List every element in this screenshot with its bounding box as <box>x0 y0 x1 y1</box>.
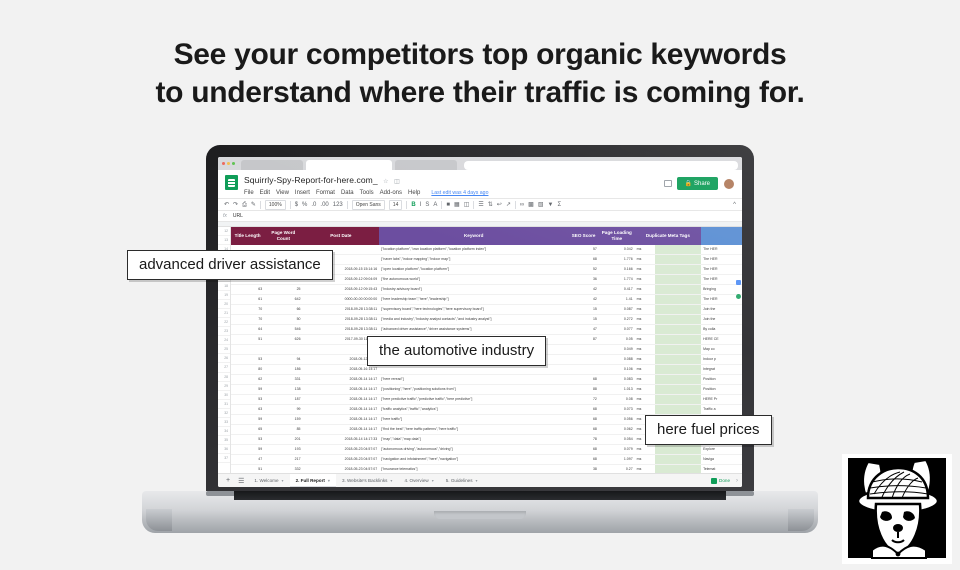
row-number[interactable]: 21 <box>218 309 230 318</box>
cell-title-length[interactable]: 62 <box>231 375 264 385</box>
cell-page-loading-time[interactable]: 1.774 <box>599 275 635 285</box>
cell-title-length[interactable]: 53 <box>231 395 264 405</box>
cell-seo-score[interactable]: 52 <box>568 265 599 275</box>
cell-duplicate-meta-tags[interactable] <box>655 455 701 465</box>
cell-meta-description[interactable]: Naviga <box>701 455 742 465</box>
cell-title-length[interactable]: 47 <box>231 455 264 465</box>
number-format-selector[interactable]: 123 <box>333 202 343 208</box>
cell-duplicate-meta-tags[interactable] <box>655 445 701 455</box>
cell-seo-score[interactable]: 36 <box>568 275 599 285</box>
cell-meta-description[interactable]: HERE Pr <box>701 395 742 405</box>
cell-keyword[interactable]: ["here predictive traffic","predictive t… <box>379 395 568 405</box>
cell-post-date[interactable]: 2018-09-28 13:38:11 <box>303 315 380 325</box>
cell-duplicate-meta-tags[interactable] <box>655 255 701 265</box>
cell-loading-unit[interactable]: ms <box>635 355 655 365</box>
chevron-down-icon[interactable]: ▾ <box>282 478 284 483</box>
paint-format-icon[interactable]: ✎ <box>251 202 256 208</box>
cell-meta-description[interactable]: Position <box>701 385 742 395</box>
cell-keyword[interactable]: ["the autonomous world"] <box>379 275 568 285</box>
cell-page-loading-time[interactable]: 0.077 <box>599 325 635 335</box>
star-icon[interactable]: ☆ <box>383 179 388 185</box>
cell-title-length[interactable]: 53 <box>231 355 264 365</box>
cell-loading-unit[interactable]: ms <box>635 265 655 275</box>
cell-title-length[interactable]: 63 <box>231 285 264 295</box>
vertical-align-icon[interactable]: ⇅ <box>488 202 493 208</box>
cell-page-loading-time[interactable]: 0.056 <box>599 415 635 425</box>
table-row[interactable]: 616420000-00-00 00:00:00["here leadershi… <box>231 295 742 305</box>
column-header-keyword[interactable]: Keyword <box>379 227 568 245</box>
cell-meta-description[interactable]: Explore <box>701 445 742 455</box>
addon-icon[interactable] <box>736 294 741 299</box>
cell-seo-score[interactable]: 68 <box>568 415 599 425</box>
cell-page-loading-time[interactable]: 0.073 <box>599 405 635 415</box>
increase-decimal-icon[interactable]: .00 <box>320 202 328 208</box>
cell-duplicate-meta-tags[interactable] <box>655 275 701 285</box>
menu-item-format[interactable]: Format <box>316 190 335 196</box>
cell-page-loading-time[interactable]: 0.106 <box>599 365 635 375</box>
decrease-decimal-icon[interactable]: .0 <box>311 202 316 208</box>
insert-chart-icon[interactable]: ▧ <box>538 202 544 208</box>
column-header-duplicate-meta-tags[interactable]: Duplicate Meta Tags <box>635 227 701 245</box>
cell-page-loading-time[interactable]: 0.05 <box>599 335 635 345</box>
cell-page-loading-time[interactable]: 0.166 <box>599 265 635 275</box>
cell-post-date[interactable]: 2018-05-14 14:17 <box>303 375 380 385</box>
cell-meta-description[interactable]: The HER <box>701 265 742 275</box>
cell-seo-score[interactable]: 42 <box>568 295 599 305</box>
cell-keyword[interactable]: ["here traffic"] <box>379 415 568 425</box>
cell-page-loading-time[interactable]: 0.27 <box>599 465 635 474</box>
cell-duplicate-meta-tags[interactable] <box>655 385 701 395</box>
cell-title-length[interactable]: 80 <box>231 365 264 375</box>
row-number[interactable]: 26 <box>218 354 230 363</box>
cell-post-date[interactable]: 2018-05-14 14:17:33 <box>303 435 380 445</box>
menu-item-view[interactable]: View <box>276 190 289 196</box>
cell-title-length[interactable]: 63 <box>231 405 264 415</box>
cell-duplicate-meta-tags[interactable] <box>655 315 701 325</box>
cell-duplicate-meta-tags[interactable] <box>655 395 701 405</box>
insert-link-icon[interactable]: ∞ <box>520 202 524 208</box>
cell-post-date[interactable]: 2018-09-28 13:38:11 <box>303 325 380 335</box>
cell-meta-description[interactable]: Telemat <box>701 465 742 474</box>
cell-duplicate-meta-tags[interactable] <box>655 335 701 345</box>
cell-post-date[interactable]: 2018-05-16 14:17 <box>303 365 380 375</box>
chevron-down-icon[interactable]: ▾ <box>476 478 478 483</box>
cell-loading-unit[interactable]: ms <box>635 335 655 345</box>
browser-tab[interactable] <box>395 160 457 170</box>
cell-keyword[interactable]: ["traffic analytics","traffic","analytic… <box>379 405 568 415</box>
cell-post-date[interactable]: 2018-05-14 14:17 <box>303 385 380 395</box>
table-row[interactable]: 70502018-09-28 13:38:11["media and indus… <box>231 315 742 325</box>
cell-meta-description[interactable]: The HER <box>701 255 742 265</box>
cell-meta-description[interactable]: Position <box>701 375 742 385</box>
cell-loading-unit[interactable]: ms <box>635 345 655 355</box>
cell-duplicate-meta-tags[interactable] <box>655 295 701 305</box>
comment-icon[interactable] <box>664 180 672 187</box>
cell-keyword[interactable]: ["insurance telematics"] <box>379 465 568 474</box>
cell-keyword[interactable]: ["navigation and infotainment","here","n… <box>379 455 568 465</box>
bold-button[interactable]: B <box>411 202 415 208</box>
done-button[interactable]: Done <box>711 478 734 484</box>
table-row[interactable]: 70662018-09-28 13:38:11["supervisory boa… <box>231 305 742 315</box>
cell-post-date[interactable]: 2018-05-14 14:17 <box>303 405 380 415</box>
redo-icon[interactable]: ↷ <box>233 202 238 208</box>
cell-meta-description[interactable]: Traffic a <box>701 405 742 415</box>
cell-page-word-count[interactable]: 85 <box>264 425 302 435</box>
row-number[interactable]: 28 <box>218 373 230 382</box>
column-header-extra[interactable] <box>701 227 742 245</box>
sheet-tab-welcome[interactable]: 1. Welcome ▾ <box>248 474 289 487</box>
cell-seo-score[interactable]: 72 <box>568 395 599 405</box>
fill-color-icon[interactable]: ■ <box>446 202 450 208</box>
cell-post-date[interactable]: 2018-09-28 13:38:11 <box>303 305 380 315</box>
cell-post-date[interactable]: 2018-05-23 04:57:07 <box>303 445 380 455</box>
cell-duplicate-meta-tags[interactable] <box>655 265 701 275</box>
cell-seo-score[interactable]: 15 <box>568 315 599 325</box>
percent-icon[interactable]: % <box>302 202 307 208</box>
table-row[interactable]: 623312018-05-14 14:17["here reread"]680.… <box>231 375 742 385</box>
row-number[interactable]: 37 <box>218 454 230 463</box>
row-number[interactable]: 33 <box>218 418 230 427</box>
cell-seo-score[interactable]: 68 <box>568 455 599 465</box>
cell-duplicate-meta-tags[interactable] <box>655 405 701 415</box>
cell-page-word-count[interactable]: 25 <box>264 285 302 295</box>
table-row[interactable]: 591932018-05-23 04:57:07["autonomous dri… <box>231 445 742 455</box>
row-number[interactable]: 24 <box>218 336 230 345</box>
cell-loading-unit[interactable]: ms <box>635 385 655 395</box>
share-button[interactable]: 🔒 Share <box>677 177 719 190</box>
cell-seo-score[interactable]: 68 <box>568 255 599 265</box>
window-controls[interactable] <box>222 162 235 165</box>
column-header-page-word-count[interactable]: Page Word Count <box>264 227 302 245</box>
cell-seo-score[interactable]: 68 <box>568 445 599 455</box>
row-number[interactable]: 27 <box>218 363 230 372</box>
text-rotation-icon[interactable]: ↗ <box>506 202 511 208</box>
folder-icon[interactable]: ◫ <box>394 179 400 185</box>
cell-seo-score[interactable]: 78 <box>568 435 599 445</box>
row-number[interactable]: 13 <box>218 236 230 245</box>
cell-title-length[interactable]: 65 <box>231 425 264 435</box>
all-sheets-icon[interactable]: ☰ <box>234 477 248 485</box>
cell-seo-score[interactable]: 47 <box>568 325 599 335</box>
borders-icon[interactable]: ▦ <box>454 202 460 208</box>
cell-page-word-count[interactable]: 332 <box>264 465 302 474</box>
cell-page-word-count[interactable]: 546 <box>264 325 302 335</box>
row-number[interactable]: 34 <box>218 427 230 436</box>
cell-seo-score[interactable]: 87 <box>568 335 599 345</box>
zoom-selector[interactable]: 100% <box>265 200 286 210</box>
cell-post-date[interactable]: 2018-05-14 14:17 <box>303 425 380 435</box>
cell-page-loading-time[interactable]: 0.08 <box>599 395 635 405</box>
table-row[interactable]: 591382018-05-14 14:17["positioning","her… <box>231 385 742 395</box>
chevron-right-icon[interactable]: › <box>734 478 738 484</box>
cell-keyword[interactable]: ["supervisory board","here technologies"… <box>379 305 568 315</box>
cell-post-date[interactable]: 2018-05-14 14:17 <box>303 395 380 405</box>
table-row[interactable]: 63252018-09-12 09:15:43["industry adviso… <box>231 285 742 295</box>
cell-duplicate-meta-tags[interactable] <box>655 325 701 335</box>
cell-keyword[interactable]: ["find the best","here traffic patterns"… <box>379 425 568 435</box>
cell-page-word-count[interactable]: 159 <box>264 415 302 425</box>
cell-loading-unit[interactable]: ms <box>635 285 655 295</box>
row-number[interactable]: 29 <box>218 382 230 391</box>
cell-post-date[interactable]: 2018-09-12 09:15:43 <box>303 285 380 295</box>
cell-page-word-count[interactable]: 94 <box>264 355 302 365</box>
cell-page-word-count[interactable]: 626 <box>264 335 302 345</box>
row-number[interactable]: 35 <box>218 436 230 445</box>
browser-tab-active[interactable] <box>306 160 392 170</box>
cell-page-word-count[interactable]: 642 <box>264 295 302 305</box>
cell-loading-unit[interactable]: ms <box>635 445 655 455</box>
menu-item-help[interactable]: Help <box>408 190 420 196</box>
cell-keyword[interactable]: ["advanced driver assistance","driver as… <box>379 325 568 335</box>
cell-loading-unit[interactable]: ms <box>635 305 655 315</box>
sheet-tab-label: 4. Overview <box>404 478 428 483</box>
cell-duplicate-meta-tags[interactable] <box>655 245 701 255</box>
cell-page-word-count[interactable]: 187 <box>264 395 302 405</box>
row-number[interactable]: 23 <box>218 327 230 336</box>
browser-tab[interactable] <box>241 160 303 170</box>
cell-keyword[interactable]: ["positioning","here","positioning solut… <box>379 385 568 395</box>
cell-page-loading-time[interactable]: 0.062 <box>599 425 635 435</box>
currency-icon[interactable]: $ <box>295 202 298 208</box>
menu-item-file[interactable]: File <box>244 190 254 196</box>
table-row[interactable]: 801862018-05-16 14:170.106msIntegrat <box>231 365 742 375</box>
cell-keyword[interactable]: ["here reread"] <box>379 375 568 385</box>
last-edit-link[interactable]: Last edit was 4 days ago <box>431 190 488 196</box>
browser-tabstrip[interactable] <box>241 157 738 170</box>
cell-page-word-count[interactable]: 99 <box>264 405 302 415</box>
sheets-toolbar[interactable]: ↶ ↷ ⎙ ✎ 100% $ % .0 .00 123 Open Sans 14 <box>218 198 742 211</box>
cell-page-word-count[interactable]: 193 <box>264 445 302 455</box>
cell-title-length[interactable] <box>231 345 264 355</box>
cell-seo-score[interactable] <box>568 365 599 375</box>
cell-loading-unit[interactable]: ms <box>635 255 655 265</box>
chevron-down-icon[interactable]: ▾ <box>390 478 392 483</box>
cell-loading-unit[interactable]: ms <box>635 395 655 405</box>
cell-keyword[interactable]: ["autonomous driving","autonomous","driv… <box>379 445 568 455</box>
cell-loading-unit[interactable]: ms <box>635 455 655 465</box>
cell-page-word-count[interactable]: 138 <box>264 385 302 395</box>
cell-title-length[interactable]: 59 <box>231 415 264 425</box>
font-size-selector[interactable]: 14 <box>389 200 403 210</box>
menu-item-edit[interactable]: Edit <box>260 190 270 196</box>
user-avatar[interactable] <box>723 178 735 190</box>
filter-icon[interactable]: ▼ <box>547 202 553 208</box>
document-title[interactable]: Squirrly-Spy-Report-for-here.com_ ☆ ◫ <box>244 175 664 188</box>
row-number[interactable]: 25 <box>218 345 230 354</box>
cell-keyword[interactable]: ["naver labs","indoor mapping","indoor m… <box>379 255 568 265</box>
cell-keyword[interactable]: ["here leadership team","here","leadersh… <box>379 295 568 305</box>
cell-page-loading-time[interactable]: 0.417 <box>599 285 635 295</box>
cell-page-loading-time[interactable]: 0.049 <box>599 345 635 355</box>
row-number[interactable]: 20 <box>218 300 230 309</box>
cell-title-length[interactable]: 51 <box>231 335 264 345</box>
cell-seo-score[interactable]: 88 <box>568 385 599 395</box>
cell-duplicate-meta-tags[interactable] <box>655 305 701 315</box>
cell-page-loading-time[interactable]: 1.013 <box>599 385 635 395</box>
cell-post-date[interactable]: 0000-00-00 00:00:00 <box>303 295 380 305</box>
cell-loading-unit[interactable]: ms <box>635 245 655 255</box>
sheet-tab-label: 2. Full Report <box>296 478 325 483</box>
sheet-tab-websites-backlinks[interactable]: 3. Website's Backlinks ▾ <box>336 474 399 487</box>
cell-duplicate-meta-tags[interactable] <box>655 465 701 474</box>
cell-keyword[interactable]: ["media and industry","industry analyst … <box>379 315 568 325</box>
column-header-strip[interactable] <box>218 222 742 227</box>
cell-seo-score[interactable]: 57 <box>568 245 599 255</box>
callout-the-automotive-industry: the automotive industry <box>367 336 546 366</box>
cell-post-date[interactable]: 2018-05-23 04:57:07 <box>303 465 380 474</box>
undo-icon[interactable]: ↶ <box>224 202 229 208</box>
table-row[interactable]: 531872018-05-14 14:17["here predictive t… <box>231 395 742 405</box>
cell-loading-unit[interactable]: ms <box>635 295 655 305</box>
cell-page-word-count[interactable]: 66 <box>264 305 302 315</box>
text-wrap-icon[interactable]: ↩ <box>497 202 502 208</box>
formula-value: URL <box>233 213 243 219</box>
cell-title-length[interactable]: 59 <box>231 445 264 455</box>
chevron-down-icon[interactable]: ▾ <box>328 478 330 483</box>
insert-comment-icon[interactable]: ▩ <box>528 202 534 208</box>
row-number[interactable]: 30 <box>218 391 230 400</box>
cell-page-loading-time[interactable]: 0.042 <box>599 245 635 255</box>
row-number[interactable]: 22 <box>218 318 230 327</box>
row-number[interactable]: 12 <box>218 227 230 236</box>
cell-page-word-count[interactable]: 331 <box>264 375 302 385</box>
menu-item-addons[interactable]: Add-ons <box>380 190 402 196</box>
callout-advanced-driver-assistance: advanced driver assistance <box>127 250 333 280</box>
sheet-tab-full-report[interactable]: 2. Full Report ▾ <box>290 474 336 487</box>
cell-post-date[interactable]: 2018-05-23 04:57:07 <box>303 455 380 465</box>
menu-item-tools[interactable]: Tools <box>360 190 374 196</box>
cell-page-loading-time[interactable]: 0.272 <box>599 315 635 325</box>
strikethrough-button[interactable]: S <box>425 202 429 208</box>
cell-duplicate-meta-tags[interactable] <box>655 375 701 385</box>
cell-duplicate-meta-tags[interactable] <box>655 285 701 295</box>
cell-page-word-count[interactable]: 50 <box>264 315 302 325</box>
cell-title-length[interactable]: 53 <box>231 435 264 445</box>
cell-page-loading-time[interactable]: 1.41 <box>599 295 635 305</box>
menu-item-insert[interactable]: Insert <box>295 190 310 196</box>
menu-bar[interactable]: File Edit View Insert Format Data Tools … <box>244 190 664 196</box>
sheet-tab-guidelines[interactable]: 5. Guidelines ▾ <box>440 474 484 487</box>
keep-icon[interactable] <box>736 280 741 285</box>
cell-title-length[interactable]: 70 <box>231 305 264 315</box>
cell-page-loading-time[interactable]: 0.083 <box>599 375 635 385</box>
column-header-seo-score[interactable]: SEO Score <box>568 227 599 245</box>
cell-page-word-count[interactable]: 186 <box>264 365 302 375</box>
cell-seo-score[interactable]: 68 <box>568 375 599 385</box>
cell-duplicate-meta-tags[interactable] <box>655 365 701 375</box>
callout-text: here fuel prices <box>657 421 760 438</box>
functions-icon[interactable]: Σ <box>557 202 561 208</box>
cell-post-date[interactable]: 2018-05-14 14:17 <box>303 415 380 425</box>
column-header-title-length[interactable]: Title Length <box>231 227 264 245</box>
cell-seo-score[interactable]: 42 <box>568 285 599 295</box>
cell-page-loading-time[interactable]: 0.087 <box>599 305 635 315</box>
cell-meta-description[interactable]: Map co <box>701 345 742 355</box>
table-row[interactable]: 472172018-05-23 04:57:07["navigation and… <box>231 455 742 465</box>
formula-bar[interactable]: fx URL <box>218 211 742 222</box>
plus-icon[interactable]: + <box>222 477 234 484</box>
cell-seo-score[interactable] <box>568 345 599 355</box>
cell-loading-unit[interactable]: ms <box>635 325 655 335</box>
cell-keyword[interactable]: ["location platform","own location platf… <box>379 245 568 255</box>
cell-duplicate-meta-tags[interactable] <box>655 345 701 355</box>
cell-seo-score[interactable]: 38 <box>568 465 599 474</box>
row-number[interactable]: 31 <box>218 400 230 409</box>
cell-title-length[interactable]: 59 <box>231 385 264 395</box>
cell-page-loading-time[interactable]: 0.088 <box>599 355 635 365</box>
cell-title-length[interactable]: 64 <box>231 325 264 335</box>
table-row[interactable]: 645462018-09-28 13:38:11["advanced drive… <box>231 325 742 335</box>
row-number[interactable]: 32 <box>218 409 230 418</box>
sheet-tab-bar[interactable]: + ☰ 1. Welcome ▾ 2. Full Report ▾ 3. Web… <box>218 473 742 487</box>
chevron-up-icon[interactable]: ^ <box>733 202 736 208</box>
cell-page-word-count[interactable] <box>264 345 302 355</box>
text-color-button[interactable]: A <box>433 202 437 208</box>
cell-keyword[interactable]: ["map","data","map data"] <box>379 435 568 445</box>
lock-icon: 🔒 <box>685 180 692 187</box>
cell-duplicate-meta-tags[interactable] <box>655 355 701 365</box>
cell-meta-description[interactable]: By colla <box>701 325 742 335</box>
cell-loading-unit[interactable]: ms <box>635 465 655 474</box>
cell-loading-unit[interactable]: ms <box>635 315 655 325</box>
sheet-tab-overview[interactable]: 4. Overview ▾ <box>398 474 439 487</box>
italic-button[interactable]: I <box>420 202 422 208</box>
cell-page-word-count[interactable]: 217 <box>264 455 302 465</box>
cell-meta-description[interactable]: Indoor p <box>701 355 742 365</box>
cell-meta-description[interactable]: The HER <box>701 245 742 255</box>
cell-page-loading-time[interactable]: 0.054 <box>599 435 635 445</box>
row-number[interactable]: 36 <box>218 445 230 454</box>
cell-seo-score[interactable]: 68 <box>568 405 599 415</box>
cell-loading-unit[interactable]: ms <box>635 405 655 415</box>
cell-seo-score[interactable] <box>568 355 599 365</box>
cell-meta-description[interactable]: HERE CE <box>701 335 742 345</box>
browser-address-bar[interactable] <box>464 161 738 170</box>
table-row[interactable]: 63992018-05-14 14:17["traffic analytics"… <box>231 405 742 415</box>
column-header-page-loading-time[interactable]: Page Loading Time <box>599 227 635 245</box>
table-row[interactable]: 513322018-05-23 04:57:07["insurance tele… <box>231 465 742 474</box>
align-icon[interactable]: ☰ <box>478 202 483 208</box>
cell-title-length[interactable]: 70 <box>231 315 264 325</box>
cell-keyword[interactable] <box>379 365 568 375</box>
cell-seo-score[interactable]: 68 <box>568 425 599 435</box>
cell-loading-unit[interactable]: ms <box>635 275 655 285</box>
cell-title-length[interactable]: 61 <box>231 295 264 305</box>
chevron-down-icon[interactable]: ▾ <box>432 478 434 483</box>
cell-meta-description[interactable]: Join the <box>701 305 742 315</box>
menu-item-data[interactable]: Data <box>341 190 354 196</box>
cell-page-word-count[interactable]: 201 <box>264 435 302 445</box>
merge-cells-icon[interactable]: ◫ <box>464 202 470 208</box>
cell-loading-unit[interactable]: ms <box>635 375 655 385</box>
cell-meta-description[interactable]: Integrat <box>701 365 742 375</box>
row-number[interactable]: 19 <box>218 291 230 300</box>
print-icon[interactable]: ⎙ <box>242 202 247 208</box>
cell-loading-unit[interactable]: ms <box>635 365 655 375</box>
cell-title-length[interactable]: 51 <box>231 465 264 474</box>
cell-keyword[interactable]: ["open location platform","location plat… <box>379 265 568 275</box>
cell-meta-description[interactable]: Join the <box>701 315 742 325</box>
cell-page-loading-time[interactable]: 1.776 <box>599 255 635 265</box>
font-family-selector[interactable]: Open Sans <box>352 200 385 210</box>
cell-keyword[interactable]: ["industry advisory board"] <box>379 285 568 295</box>
row-number[interactable]: 18 <box>218 282 230 291</box>
cell-page-loading-time[interactable]: 0.079 <box>599 445 635 455</box>
cell-seo-score[interactable]: 15 <box>568 305 599 315</box>
column-header-post-date[interactable]: Post Date <box>303 227 380 245</box>
cell-page-loading-time[interactable]: 1.097 <box>599 455 635 465</box>
side-icon-rail[interactable] <box>736 280 741 299</box>
